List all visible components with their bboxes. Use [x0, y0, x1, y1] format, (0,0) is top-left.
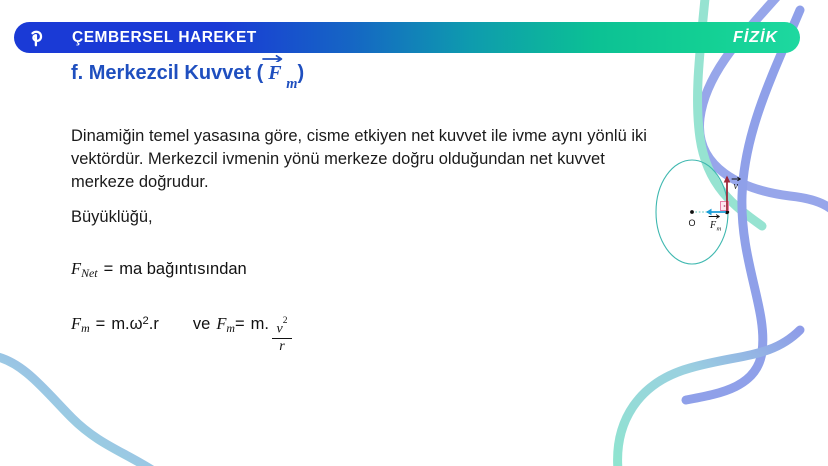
formula-net-symbol: F [71, 259, 81, 279]
formula-fm2-mass: m. [251, 315, 269, 334]
formula-fm2-subscript: m [226, 321, 235, 336]
formula-net-subscript: Net [81, 266, 98, 281]
circular-motion-diagram: O F m v [645, 152, 750, 277]
heading-prefix: f. Merkezcil Kuvvet ( [71, 62, 263, 84]
formula-fm-symbol: F [71, 314, 81, 334]
heading-force-symbol: F [263, 62, 286, 84]
formula-conjunction: ve [193, 315, 210, 334]
formula-net-equals: = [104, 260, 114, 279]
formula-net-force: FNet = ma bağıntısından [71, 259, 247, 279]
formula-centripetal: Fm = m.ω2.r ve Fm = m. v2 r [71, 314, 292, 350]
diagram-center-label: O [688, 218, 695, 228]
right-angle-dot-icon [724, 205, 726, 207]
diagram-velocity-label: v [732, 177, 740, 192]
fraction-denominator: r [276, 339, 287, 354]
formula-fm2-equals: = [235, 315, 245, 334]
formula-fm-radius: .r [149, 315, 159, 334]
fraction-numerator-power: 2 [283, 316, 288, 326]
formula-fm-omega: ω [130, 315, 143, 334]
heading-subscript: m [286, 76, 297, 92]
formula-fm-subscript: m [81, 321, 90, 336]
formula-fm-mass: m. [111, 315, 129, 334]
formula-fm-equals: = [96, 315, 106, 334]
svg-text:v: v [734, 181, 739, 192]
heading-suffix: ) [297, 62, 304, 84]
formula-fraction: v2 r [272, 321, 292, 354]
fraction-numerator-var: v [276, 322, 282, 337]
center-point-icon [690, 210, 694, 214]
svg-text:m: m [717, 226, 722, 233]
body-paragraph: Dinamiğin temel yasasına göre, cisme etk… [71, 125, 671, 194]
page-title: f. Merkezcil Kuvvet ( F m) [71, 62, 304, 89]
slide-content: f. Merkezcil Kuvvet ( F m) Dinamiğin tem… [0, 0, 828, 466]
formula-fm-omega-power: 2 [143, 315, 149, 327]
fraction-numerator: v2 [273, 321, 290, 338]
diagram-force-label: F m [709, 215, 722, 233]
vector-arrow-icon [262, 54, 284, 62]
heading-symbol-glyph: F [268, 62, 281, 84]
magnitude-label: Büyüklüğü, [71, 208, 153, 227]
formula-fm2-symbol: F [216, 314, 226, 334]
formula-net-expression: ma bağıntısından [119, 260, 247, 279]
